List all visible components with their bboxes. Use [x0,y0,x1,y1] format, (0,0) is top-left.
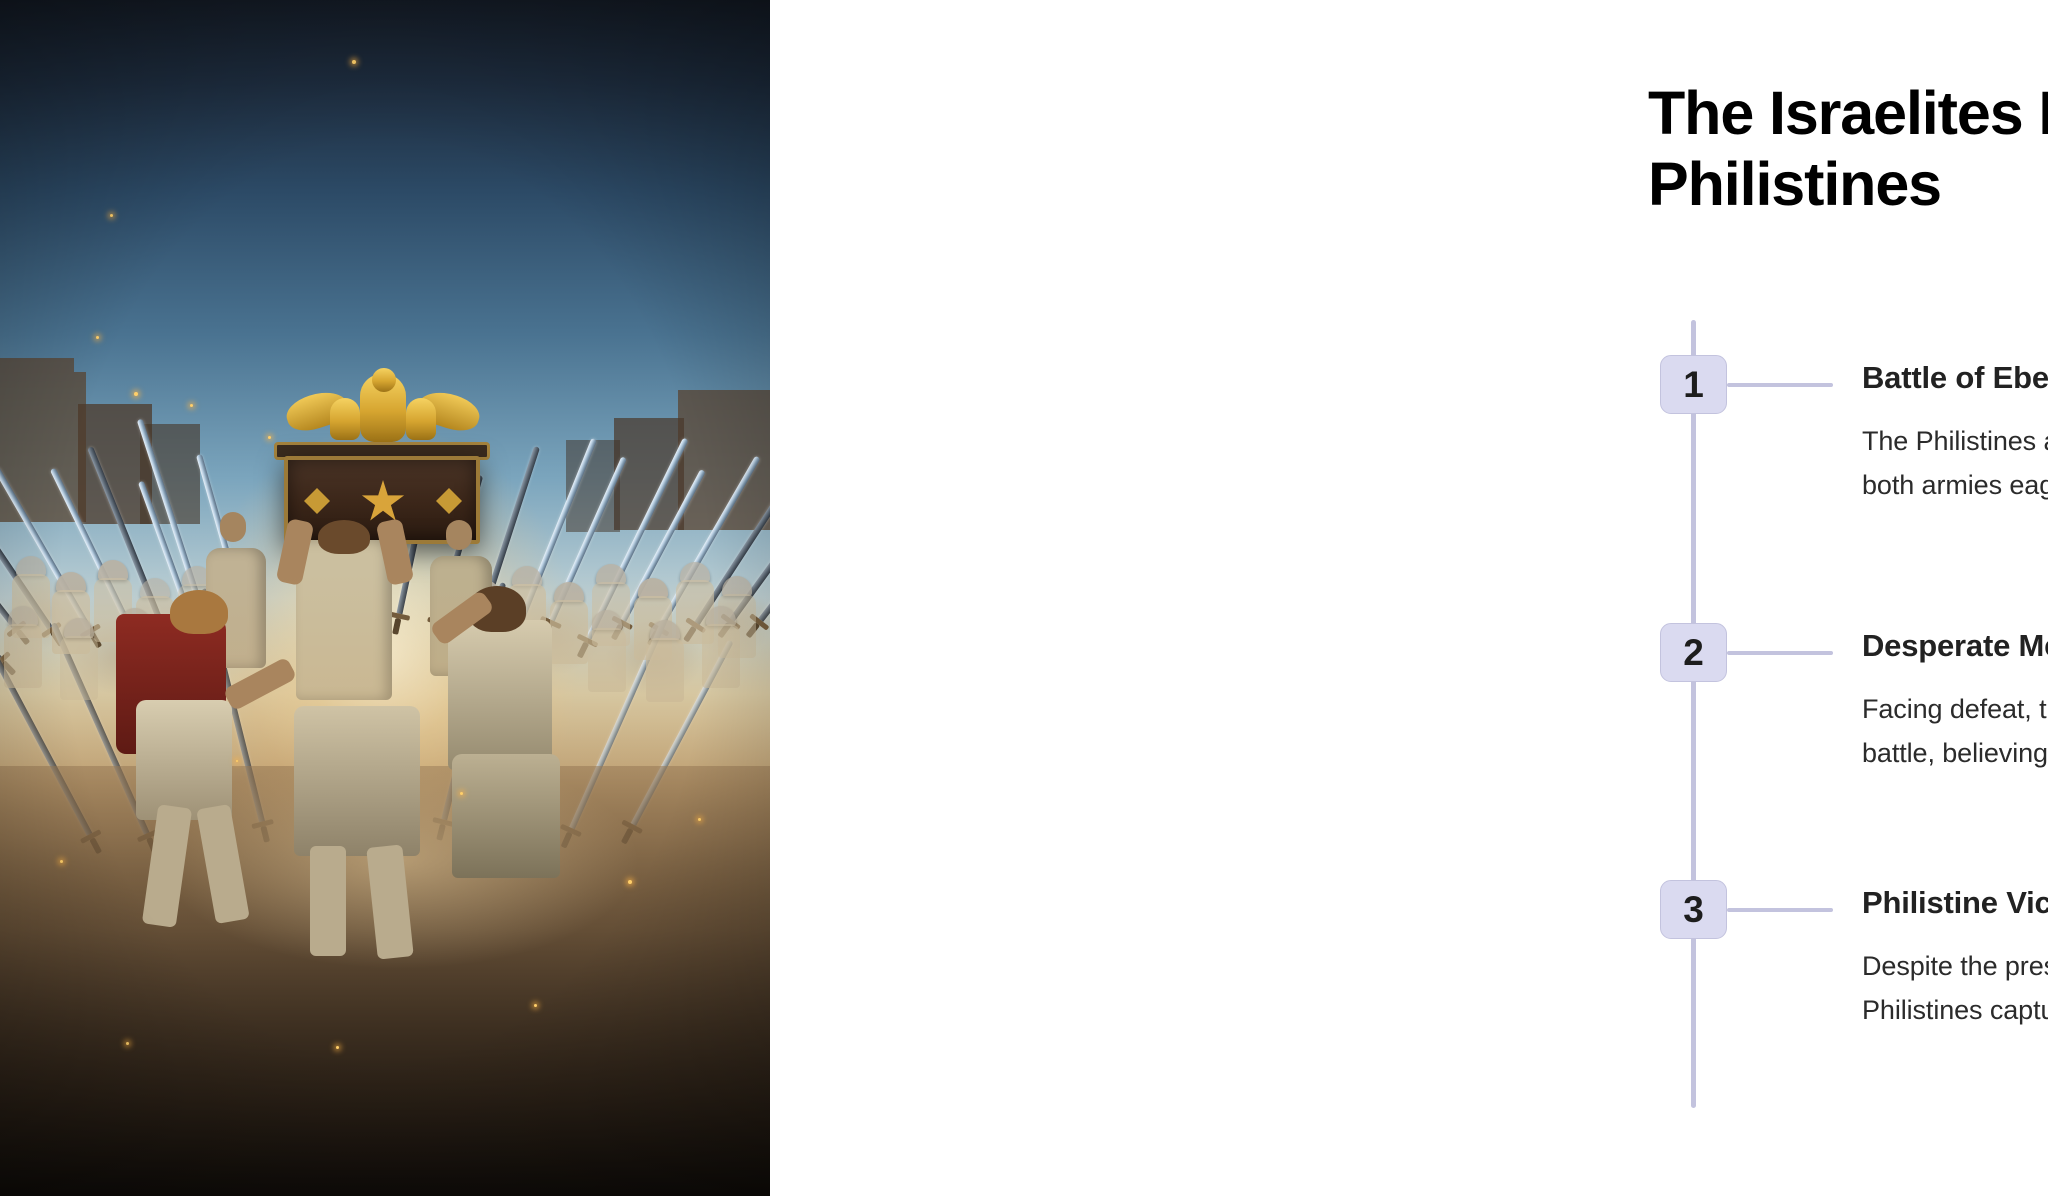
timeline-connector-3 [1727,908,1833,912]
content-panel: The Israelites Lose the Ark to the Phili… [770,0,2048,1196]
timeline-item-title-2: Desperate Measures [1862,628,2048,664]
timeline-item-description-3: Despite the presence of the Ark, the Isr… [1862,945,2048,1032]
timeline-item-title-1: Battle of Ebenezer [1862,360,2048,396]
vignette-layer [0,0,770,1196]
timeline-item-description-2: Facing defeat, the Israelites decide to … [1862,688,2048,775]
timeline-badge-1: 1 [1660,355,1727,414]
timeline: 1 Battle of Ebenezer The Philistines and… [770,0,2048,1196]
timeline-item-description-1: The Philistines and Israelites clash in … [1862,420,2048,507]
slide-root: The Israelites Lose the Ark to the Phili… [0,0,2048,1196]
timeline-connector-1 [1727,383,1833,387]
battle-illustration [0,0,770,1196]
timeline-item-title-3: Philistine Victory [1862,885,2048,921]
timeline-axis-line [1691,320,1696,1108]
timeline-badge-3: 3 [1660,880,1727,939]
timeline-badge-2: 2 [1660,623,1727,682]
timeline-connector-2 [1727,651,1833,655]
